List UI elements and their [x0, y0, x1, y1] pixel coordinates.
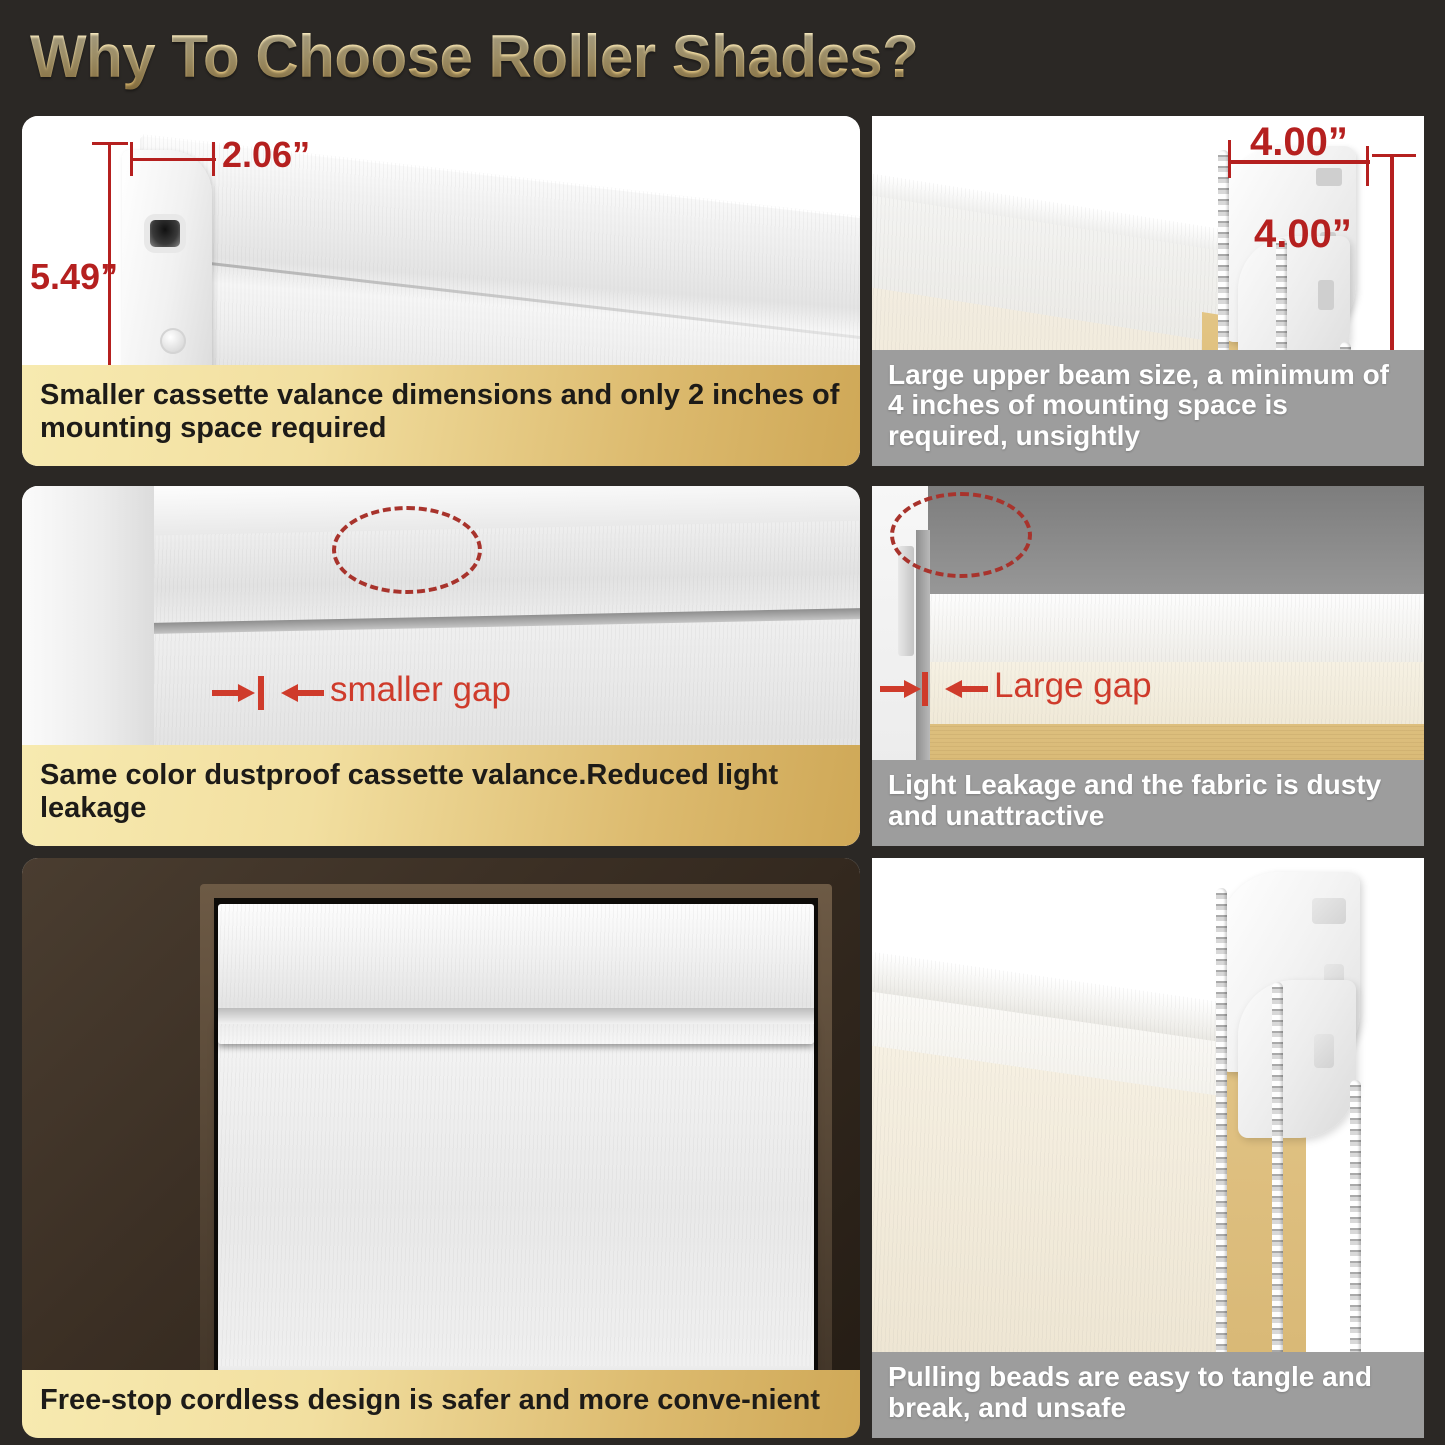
- mounting-bracket-rear: [1238, 980, 1356, 1138]
- valance-end-cap: [122, 150, 212, 382]
- dimension-label-horizontal: 4.00”: [1250, 120, 1348, 165]
- panel-caption: Large upper beam size, a minimum of 4 in…: [872, 350, 1424, 466]
- dim-line-width: [130, 158, 216, 161]
- panel-caption: Light Leakage and the fabric is dusty an…: [872, 760, 1424, 846]
- panel-caption: Smaller cassette valance dimensions and …: [22, 365, 860, 466]
- panel-free-stop-cordless-design: Free-stop cordless design is safer and m…: [22, 858, 860, 1438]
- gap-highlight-ellipse: [332, 506, 482, 594]
- room-window-photo: [22, 858, 860, 1438]
- dimension-label-width: 2.06”: [222, 134, 310, 176]
- panel-large-upper-beam: 4.00” 4.00” Large upper beam size, a min…: [872, 116, 1424, 466]
- gap-marker-bar: [258, 676, 264, 710]
- comparison-grid: 2.06” 5.49” Smaller cassette valance dim…: [0, 112, 1445, 1445]
- panel-pulling-beads-tangle: Pulling beads are easy to tangle and bre…: [872, 858, 1424, 1438]
- panel-caption: Pulling beads are easy to tangle and bre…: [872, 1352, 1424, 1438]
- page-title: Why To Choose Roller Shades?: [30, 22, 918, 91]
- bead-chain-middle: [1272, 982, 1283, 1358]
- dim-tick-top: [92, 142, 128, 145]
- dim-tick-h-left: [1228, 140, 1231, 178]
- panel-caption: Free-stop cordless design is safer and m…: [22, 1370, 860, 1438]
- dim-tick-h-right: [1366, 146, 1369, 186]
- bead-chain-left: [1216, 888, 1227, 1358]
- dimension-label-height: 5.49”: [30, 256, 118, 298]
- gap-arrow-left-icon: [880, 678, 922, 700]
- valance-bottom-bar: [218, 1008, 814, 1024]
- bead-chain-right: [1350, 1080, 1361, 1358]
- gap-marker-bar: [922, 672, 928, 706]
- dim-tick-v-top: [1372, 154, 1416, 157]
- panel-cassette-valance-dimensions: 2.06” 5.49” Smaller cassette valance dim…: [22, 116, 860, 466]
- gap-label: smaller gap: [330, 670, 511, 710]
- gap-arrow-left-icon: [212, 682, 256, 704]
- screw-icon: [160, 328, 186, 354]
- gap-arrow-right-icon: [938, 678, 988, 700]
- header: Why To Choose Roller Shades?: [0, 0, 1445, 112]
- panel-dustproof-cassette-valance: smaller gap Same color dustproof cassett…: [22, 486, 860, 846]
- gap-label: Large gap: [994, 666, 1152, 706]
- gap-arrow-right-icon: [274, 682, 324, 704]
- panel-caption: Same color dustproof cassette valance.Re…: [22, 745, 860, 846]
- dimension-label-vertical: 4.00”: [1254, 212, 1352, 257]
- roller-shade-fabric: [218, 1022, 814, 1394]
- panel-light-leakage-dusty-fabric: Large gap Light Leakage and the fabric i…: [872, 486, 1424, 846]
- gap-highlight-ellipse: [890, 492, 1032, 578]
- bead-chain-photo: [872, 858, 1424, 1438]
- bracket-slot-icon: [150, 220, 180, 247]
